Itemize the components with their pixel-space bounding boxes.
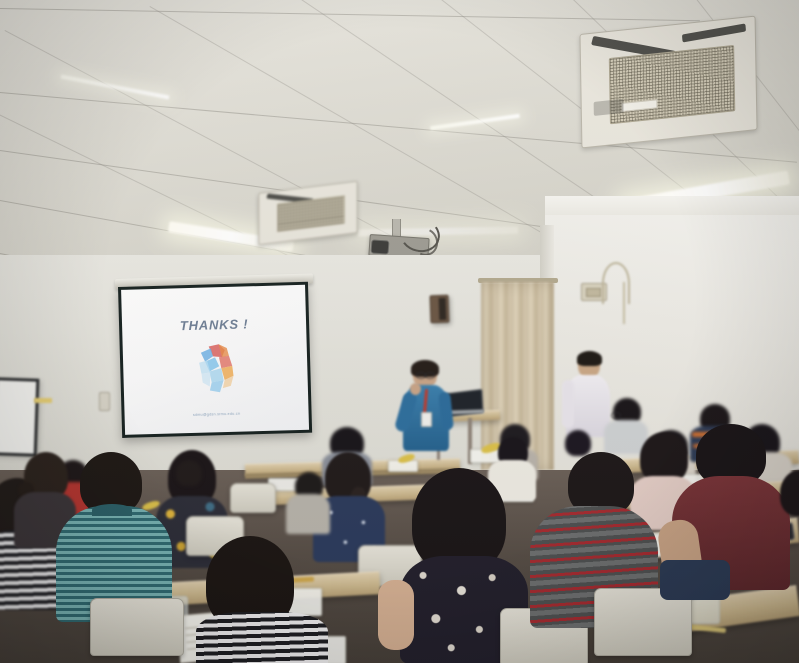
wall-sign — [34, 398, 52, 403]
wall-speaker — [430, 295, 450, 324]
projection-screen: THANKS ! sdmu@gdsn.srmu.edu.cn — [118, 282, 312, 438]
chair[interactable] — [90, 598, 184, 656]
chair[interactable] — [230, 483, 276, 513]
presenter-glasses-2 — [425, 372, 435, 379]
attendee-teal-polo-collar — [92, 504, 132, 516]
attendee-head-back-7 — [565, 430, 591, 456]
slide-email-text: sdmu@gdsn.srmu.edu.cn — [125, 410, 309, 419]
attendee-glasses-back-3 — [611, 412, 621, 419]
attendee-small-head-left — [176, 460, 202, 486]
standing-attendee-hair — [577, 351, 602, 366]
presenter-badge — [421, 412, 432, 427]
wall-cable — [602, 262, 630, 304]
fluorescent-light-left — [61, 75, 170, 100]
presenter-hand — [410, 383, 421, 395]
wall-cable-drop — [623, 282, 625, 324]
projector-lens — [371, 239, 390, 254]
attendee-black-white-stripes-2[interactable] — [196, 612, 328, 663]
classroom-photo: THANKS ! sdmu@gdsn.srmu.edu.cn — [0, 0, 799, 663]
attendee-maroon-trousers — [660, 560, 730, 600]
ceiling-cassette-ac-right — [579, 16, 757, 149]
wall-intercom[interactable] — [99, 392, 110, 411]
ceiling-cassette-ac-center — [258, 181, 357, 246]
attendee-grey-top — [286, 494, 330, 534]
projection-screen-surface: THANKS ! sdmu@gdsn.srmu.edu.cn — [121, 285, 309, 435]
attendee-dark-floral-arm — [378, 580, 414, 650]
colored-map-heart-graphic — [189, 342, 243, 399]
whiteboard — [0, 377, 39, 456]
standing-attendee-arm — [562, 380, 574, 428]
slide-title: THANKS ! — [122, 315, 306, 335]
